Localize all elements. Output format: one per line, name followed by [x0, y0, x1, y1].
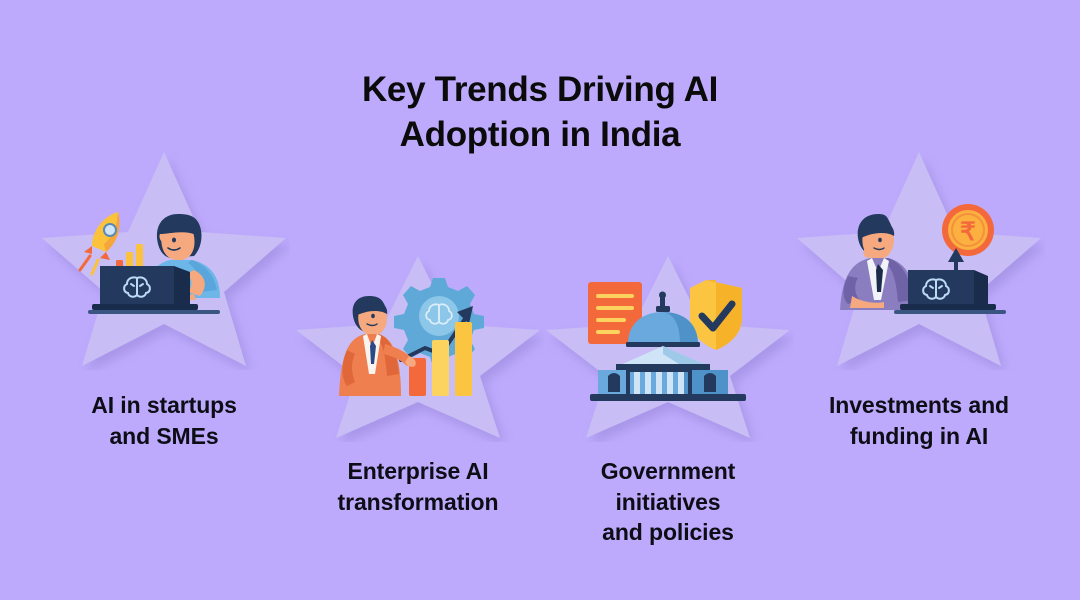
trend-star-ai-in-startups-and-smes[interactable]: [38, 148, 290, 370]
illustration-person-at-laptop-with-rocket: [70, 200, 258, 320]
businessman-icon: [840, 214, 916, 310]
businessman-icon: [339, 296, 416, 396]
illustration-businessman-presenting-growth-chart: [329, 274, 507, 404]
caption-line-2: initiatives: [522, 487, 814, 518]
caption-line-2: and SMEs: [18, 421, 310, 452]
caption-line-1: Enterprise AI: [272, 456, 564, 487]
caption-ai-in-startups-and-smes: AI in startups and SMEs: [18, 390, 310, 451]
trend-star-investments-and-funding-in-ai[interactable]: ₹: [793, 148, 1045, 370]
page-title-line-1: Key Trends Driving AI: [0, 68, 1080, 113]
page-title: Key Trends Driving AI Adoption in India: [0, 68, 1080, 158]
illustration-businessman-with-rupee-coin: ₹: [826, 200, 1012, 320]
caption-line-1: Government: [522, 456, 814, 487]
illustration-government-building: [582, 274, 754, 404]
caption-line-3: and policies: [522, 517, 814, 548]
trend-star-government-initiatives-and-policies[interactable]: [542, 252, 794, 442]
caption-investments-and-funding-in-ai: Investments and funding in AI: [773, 390, 1065, 451]
laptop-brain-icon: [894, 270, 1006, 314]
caption-line-1: Investments and: [773, 390, 1065, 421]
trend-star-enterprise-ai-transformation[interactable]: [292, 252, 544, 442]
caption-line-1: AI in startups: [18, 390, 310, 421]
rocket-icon: [80, 212, 120, 274]
rupee-symbol: ₹: [960, 218, 976, 246]
rupee-coin-icon: ₹: [942, 204, 994, 256]
caption-enterprise-ai-transformation: Enterprise AI transformation: [272, 456, 564, 517]
caption-line-2: transformation: [272, 487, 564, 518]
caption-line-2: funding in AI: [773, 421, 1065, 452]
caption-government-initiatives-and-policies: Government initiatives and policies: [522, 456, 814, 548]
infographic-canvas: Key Trends Driving AI Adoption in India: [0, 0, 1080, 600]
shield-check-icon: [690, 280, 742, 350]
